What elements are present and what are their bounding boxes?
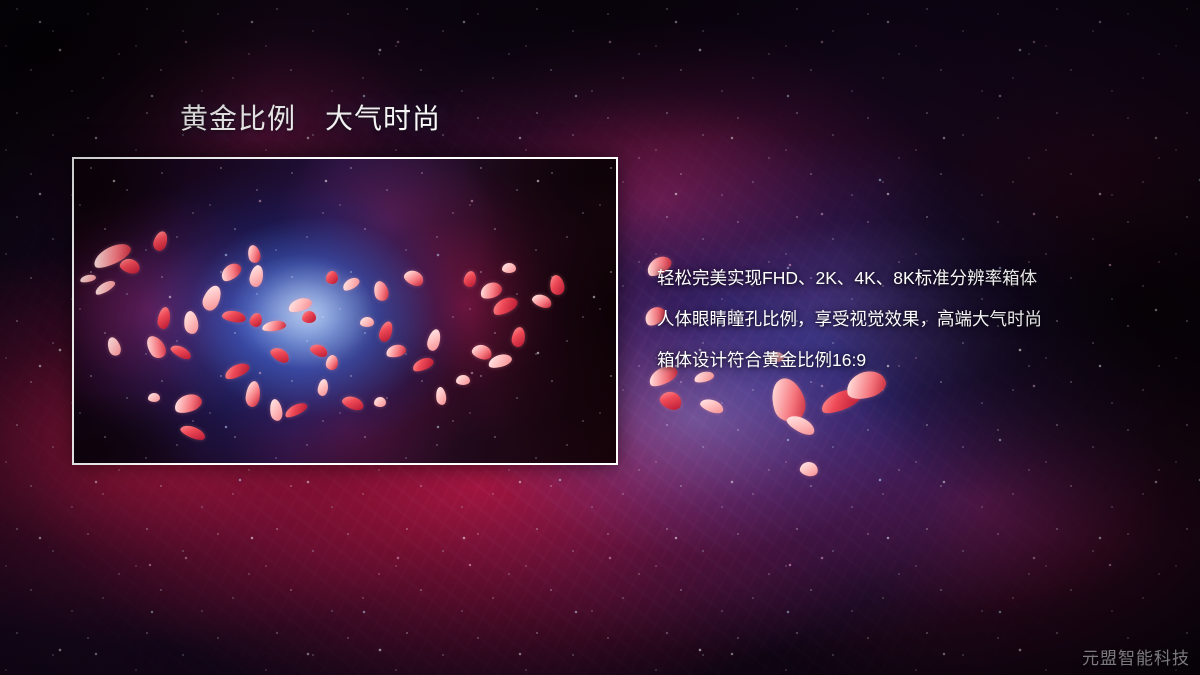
petal (799, 460, 820, 477)
body-line-3: 箱体设计符合黄金比例16:9 (657, 340, 1177, 381)
body-line-2: 人体眼睛瞳孔比例，享受视觉效果，高端大气时尚 (657, 299, 1177, 340)
petal (699, 396, 726, 415)
petal (657, 388, 684, 412)
presentation-slide: 黄金比例 大气时尚 轻松完美实现FHD、2K、4K、8K标准分辨率箱体 人体眼睛… (0, 0, 1200, 675)
watermark: 元盟智能科技 (1082, 644, 1190, 669)
body-text-block: 轻松完美实现FHD、2K、4K、8K标准分辨率箱体 人体眼睛瞳孔比例，享受视觉效… (657, 258, 1177, 381)
body-line-1: 轻松完美实现FHD、2K、4K、8K标准分辨率箱体 (657, 258, 1177, 299)
